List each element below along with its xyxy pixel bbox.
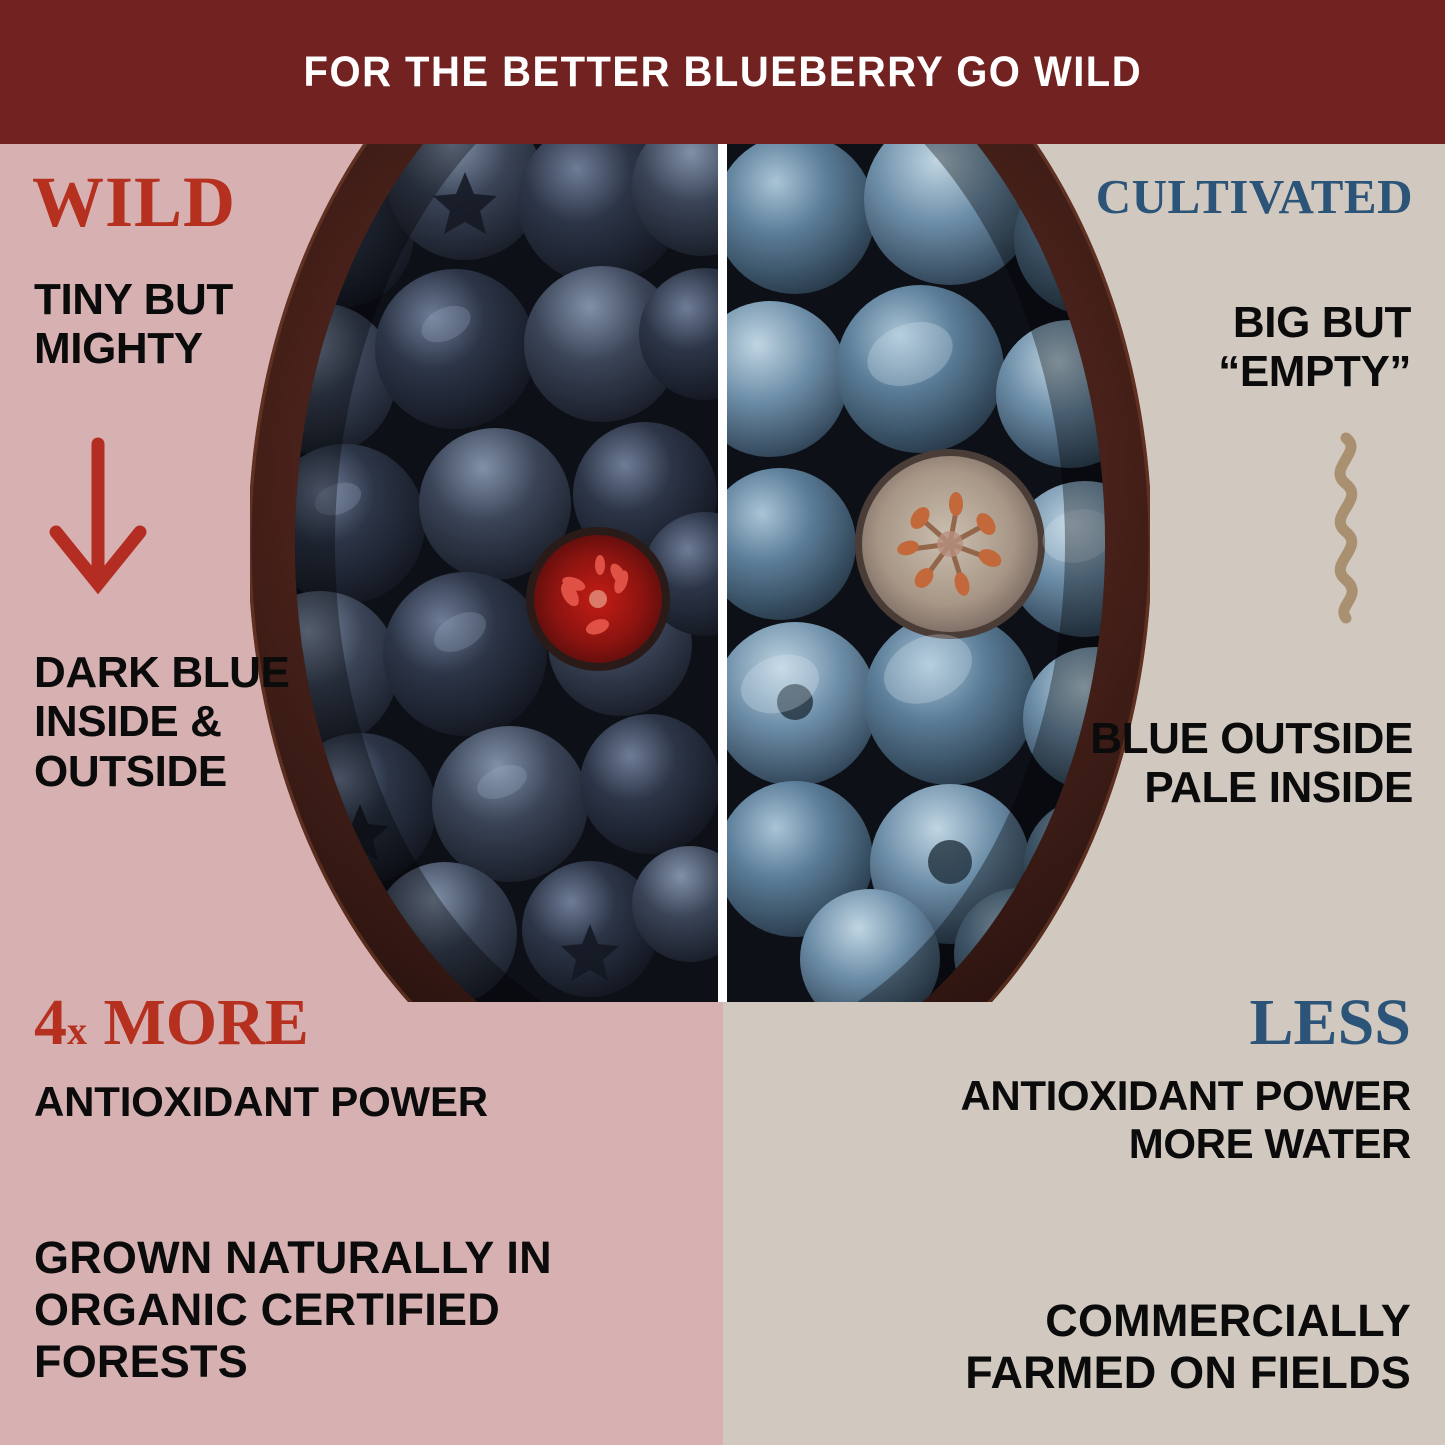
wild-stat-multiplier: x (67, 1008, 87, 1053)
wild-stat-number: 4 (34, 986, 67, 1059)
panel-divider (718, 144, 727, 1002)
header-banner: FOR THE BETTER BLUEBERRY GO WILD (0, 0, 1445, 144)
wild-stat-heading: 4x MORE (34, 990, 309, 1056)
banner-title: FOR THE BETTER BLUEBERRY GO WILD (303, 48, 1142, 97)
cultivated-subheading: BIG BUT “EMPTY” (1081, 298, 1411, 397)
wild-stat-caption: ANTIOXIDANT POWER (34, 1078, 488, 1125)
infographic-poster: FOR THE BETTER BLUEBERRY GO WILD WILD TI… (0, 0, 1445, 1445)
cultivated-trait-text: BLUE OUTSIDE PALE INSIDE (1063, 714, 1413, 813)
cultivated-heading: CULTIVATED (1096, 172, 1413, 221)
wild-origin-text: GROWN NATURALLY IN ORGANIC CERTIFIED FOR… (34, 1232, 674, 1389)
wild-stat-word: MORE (87, 986, 309, 1059)
arrow-down-icon (48, 436, 148, 596)
wild-heading: WILD (32, 166, 236, 238)
cultivated-stat-caption: ANTIOXIDANT POWER MORE WATER (851, 1072, 1411, 1169)
blueberry-comparison-photo (250, 144, 1150, 1002)
cultivated-stat-heading: LESS (1250, 990, 1411, 1056)
wavy-line-icon (1306, 432, 1386, 624)
cultivated-origin-text: COMMERCIALLY FARMED ON FIELDS (851, 1295, 1411, 1399)
wild-subheading: TINY BUT MIGHTY (34, 275, 334, 374)
wild-trait-text: DARK BLUE INSIDE & OUTSIDE (34, 648, 364, 796)
